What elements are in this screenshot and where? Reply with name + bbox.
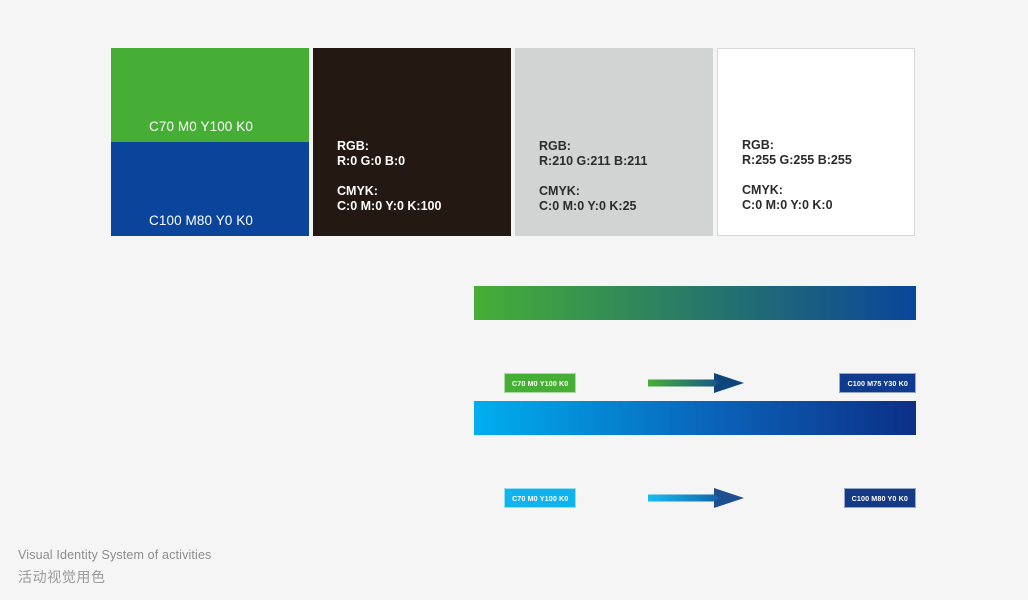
rgb-value: R:255 G:255 B:255	[742, 153, 914, 168]
chip-navy-target: C100 M80 Y0 K0	[844, 488, 916, 508]
rgb-value: R:210 G:211 B:211	[539, 154, 713, 169]
rgb-key: RGB:	[337, 139, 511, 154]
chip-green-source: C70 M0 Y100 K0	[504, 373, 576, 393]
cmyk-block: CMYK: C:0 M:0 Y:0 K:100	[337, 184, 511, 215]
swatch-green-block: C70 M0 Y100 K0	[111, 48, 309, 142]
rgb-block: RGB: R:0 G:0 B:0	[337, 139, 511, 170]
chip-cyan-source: C70 M0 Y100 K0	[504, 488, 576, 508]
arrow-right-icon	[648, 485, 746, 511]
gradient-chip-row-2: C70 M0 Y100 K0 C100 M80 Y0 K0	[474, 488, 916, 508]
chip-label: C70 M0 Y100 K0	[512, 378, 568, 388]
footer-caption: Visual Identity System of activities 活动视…	[18, 548, 211, 587]
rgb-block: RGB: R:210 G:211 B:211	[539, 139, 713, 170]
swatch-card-white: RGB: R:255 G:255 B:255 CMYK: C:0 M:0 Y:0…	[717, 48, 915, 236]
chip-label: C100 M75 Y30 K0	[847, 378, 908, 388]
chip-label: C70 M0 Y100 K0	[512, 493, 568, 503]
chip-blue-target: C100 M75 Y30 K0	[839, 373, 916, 393]
footer-english-title: Visual Identity System of activities	[18, 548, 211, 562]
cmyk-key: CMYK:	[742, 183, 914, 198]
chip-label: C100 M80 Y0 K0	[852, 493, 908, 503]
swatch-green-label: C70 M0 Y100 K0	[149, 119, 253, 134]
gradient-bar-cyan-navy	[474, 401, 916, 435]
gradient-chip-row-1: C70 M0 Y100 K0 C100 M75 Y30 K0	[474, 373, 916, 393]
gradient-arrow-1	[648, 370, 746, 396]
rgb-block: RGB: R:255 G:255 B:255	[742, 138, 914, 169]
cmyk-value: C:0 M:0 Y:0 K:25	[539, 199, 713, 214]
cmyk-value: C:0 M:0 Y:0 K:0	[742, 198, 914, 213]
gradient-section-green-blue: C70 M0 Y100 K0 C100 M75 Y30 K0	[474, 286, 916, 393]
gradient-arrow-2	[648, 485, 746, 511]
color-swatch-strip: C70 M0 Y100 K0 C100 M80 Y0 K0 RGB: R:0 G…	[111, 48, 915, 236]
swatch-card-split: C70 M0 Y100 K0 C100 M80 Y0 K0	[111, 48, 309, 236]
swatch-blue-label: C100 M80 Y0 K0	[149, 213, 253, 228]
cmyk-key: CMYK:	[539, 184, 713, 199]
rgb-key: RGB:	[742, 138, 914, 153]
swatch-card-grey: RGB: R:210 G:211 B:211 CMYK: C:0 M:0 Y:0…	[515, 48, 713, 236]
gradient-section-cyan-navy: C70 M0 Y100 K0 C100 M80 Y0 K0	[474, 401, 916, 508]
cmyk-value: C:0 M:0 Y:0 K:100	[337, 199, 511, 214]
swatch-card-black: RGB: R:0 G:0 B:0 CMYK: C:0 M:0 Y:0 K:100	[313, 48, 511, 236]
cmyk-block: CMYK: C:0 M:0 Y:0 K:0	[742, 183, 914, 214]
rgb-key: RGB:	[539, 139, 713, 154]
gradient-bar-green-blue	[474, 286, 916, 320]
arrow-right-icon	[648, 370, 746, 396]
footer-chinese-title: 活动视觉用色	[18, 567, 211, 587]
rgb-value: R:0 G:0 B:0	[337, 154, 511, 169]
swatch-blue-block: C100 M80 Y0 K0	[111, 142, 309, 236]
cmyk-block: CMYK: C:0 M:0 Y:0 K:25	[539, 184, 713, 215]
cmyk-key: CMYK:	[337, 184, 511, 199]
